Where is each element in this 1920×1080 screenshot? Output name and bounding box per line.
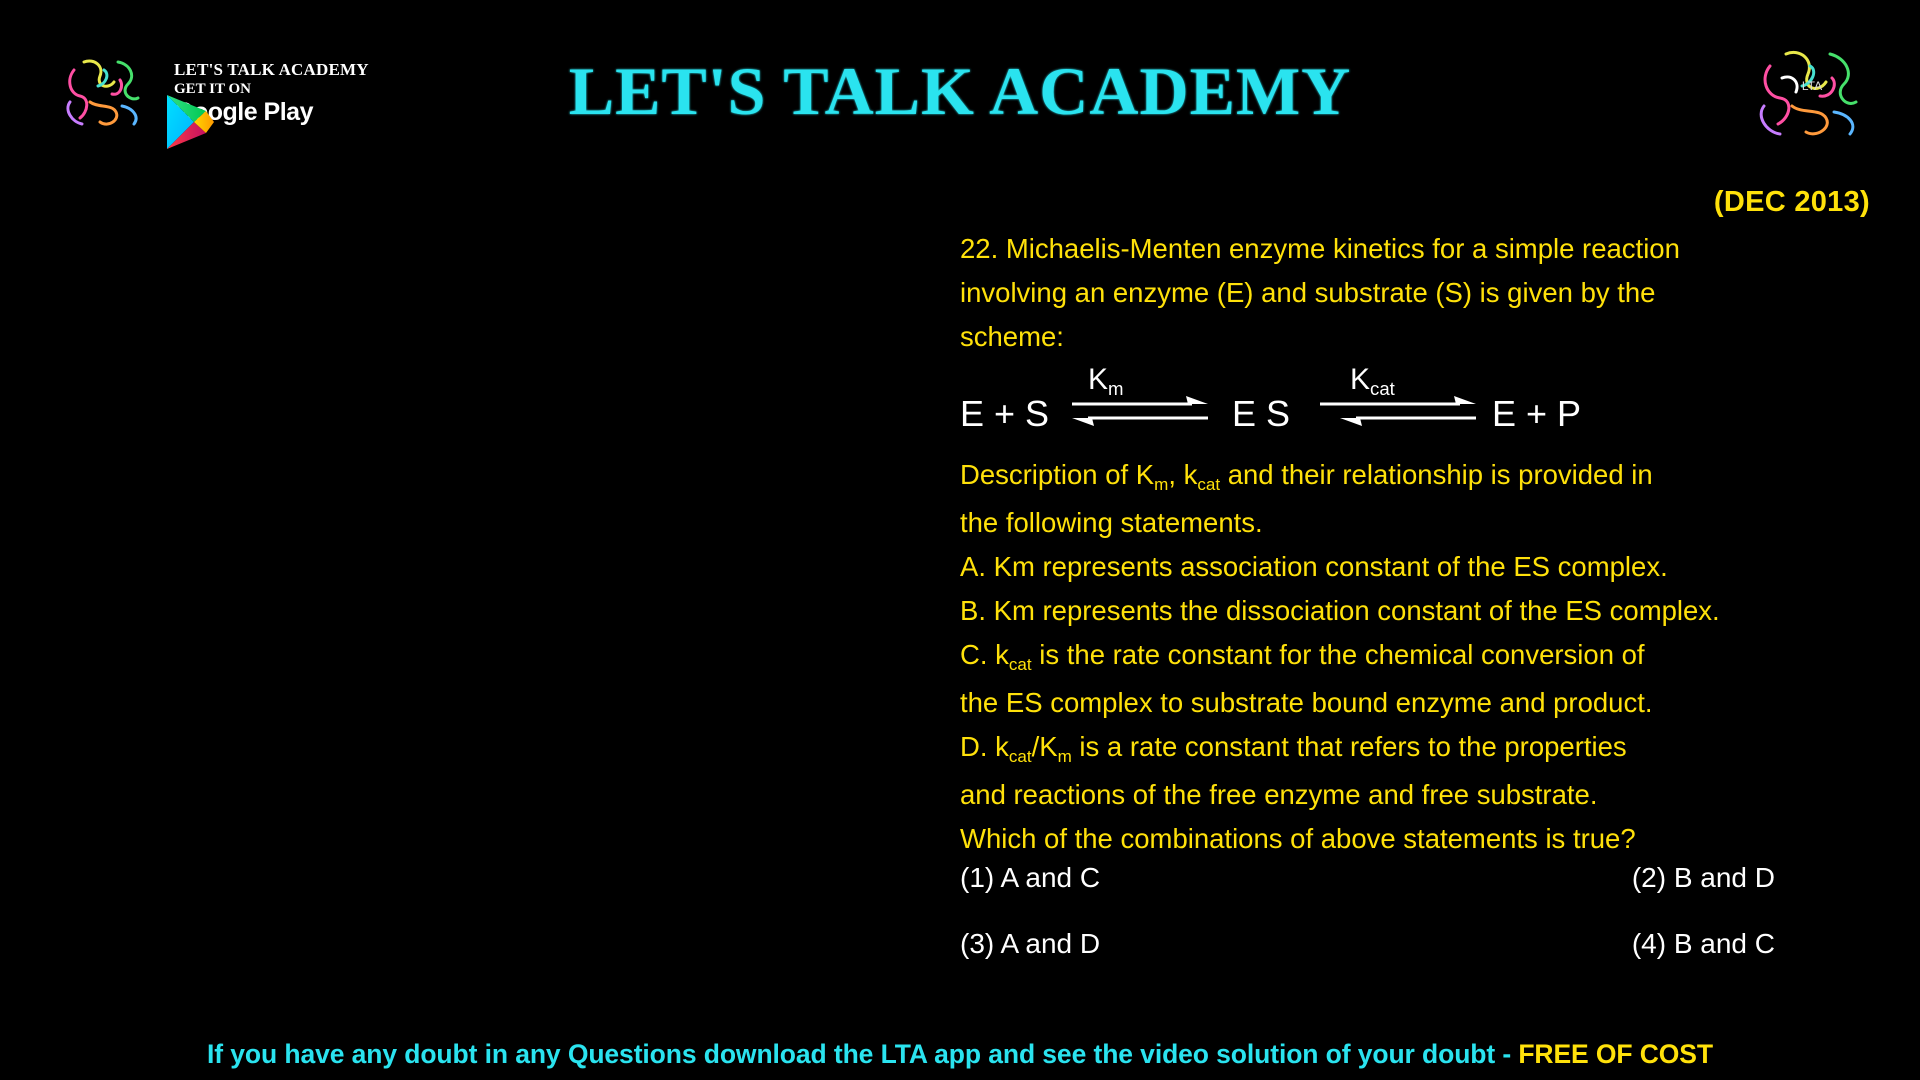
equilibrium-arrows-right [1318, 391, 1478, 438]
option-2[interactable]: (2) B and D [1415, 862, 1870, 894]
statement-c-line-1: C. kcat is the rate constant for the che… [960, 633, 1870, 681]
desc-part-3: and their relationship is provided in [1220, 459, 1653, 490]
statement-d-line-1: D. kcat/Km is a rate constant that refer… [960, 725, 1870, 773]
page-title: LET'S TALK ACADEMY [0, 52, 1920, 131]
stmt-d-sub-m: m [1058, 747, 1072, 766]
option-row: (3) A and D (4) B and C [960, 928, 1870, 960]
footer-main-text: If you have any doubt in any Questions d… [207, 1039, 1518, 1069]
stem-line-1: 22. Michaelis-Menten enzyme kinetics for… [960, 227, 1870, 271]
question-prompt: Which of the combinations of above state… [960, 817, 1870, 861]
reaction-scheme: E + S Km E S Kcat E + P [960, 365, 1870, 451]
svg-text:LTA: LTA [1802, 79, 1822, 93]
option-row: (1) A and C (2) B and D [960, 862, 1870, 894]
stmt-c-part-1: C. k [960, 639, 1009, 670]
desc-part-2: , k [1168, 459, 1197, 490]
scheme-middle-term: E S [1232, 393, 1290, 435]
scheme-right-term: E + P [1492, 393, 1581, 435]
stem-line-3: scheme: [960, 315, 1870, 359]
statement-d-line-2: and reactions of the free enzyme and fre… [960, 773, 1870, 817]
page-header: LET'S TALK ACADEMY GET IT ON Google Play… [0, 0, 1920, 170]
desc-part-1: Description of K [960, 459, 1154, 490]
statement-b: B. Km represents the dissociation consta… [960, 589, 1870, 633]
stmt-d-part-3: is a rate constant that refers to the pr… [1072, 731, 1627, 762]
protein-structure-icon: LTA [1752, 40, 1872, 148]
option-4[interactable]: (4) B and C [1415, 928, 1870, 960]
footer-banner: If you have any doubt in any Questions d… [0, 1039, 1920, 1070]
stmt-d-part-2: /K [1032, 731, 1058, 762]
stmt-d-sub-cat: cat [1009, 747, 1032, 766]
stmt-d-part-1: D. k [960, 731, 1009, 762]
question-description: Description of Km, kcat and their relati… [960, 453, 1870, 861]
statement-a: A. Km represents association constant of… [960, 545, 1870, 589]
stmt-c-part-2: is the rate constant for the chemical co… [1032, 639, 1645, 670]
option-1[interactable]: (1) A and C [960, 862, 1415, 894]
scheme-left-term: E + S [960, 393, 1049, 435]
statement-c-line-2: the ES complex to substrate bound enzyme… [960, 681, 1870, 725]
answer-options: (1) A and C (2) B and D (3) A and D (4) … [960, 862, 1870, 994]
exam-date-label: (DEC 2013) [960, 186, 1870, 219]
description-line-2: the following statements. [960, 501, 1870, 545]
stmt-c-sub-cat: cat [1009, 655, 1032, 674]
question-block: (DEC 2013) 22. Michaelis-Menten enzyme k… [960, 186, 1870, 861]
desc-sub-m: m [1154, 475, 1168, 494]
footer-highlight-text: FREE OF COST [1518, 1039, 1713, 1069]
stem-line-2: involving an enzyme (E) and substrate (S… [960, 271, 1870, 315]
description-line-1: Description of Km, kcat and their relati… [960, 453, 1870, 501]
desc-sub-cat: cat [1197, 475, 1220, 494]
option-3[interactable]: (3) A and D [960, 928, 1415, 960]
question-stem: 22. Michaelis-Menten enzyme kinetics for… [960, 227, 1870, 359]
equilibrium-arrows-left [1070, 391, 1210, 438]
